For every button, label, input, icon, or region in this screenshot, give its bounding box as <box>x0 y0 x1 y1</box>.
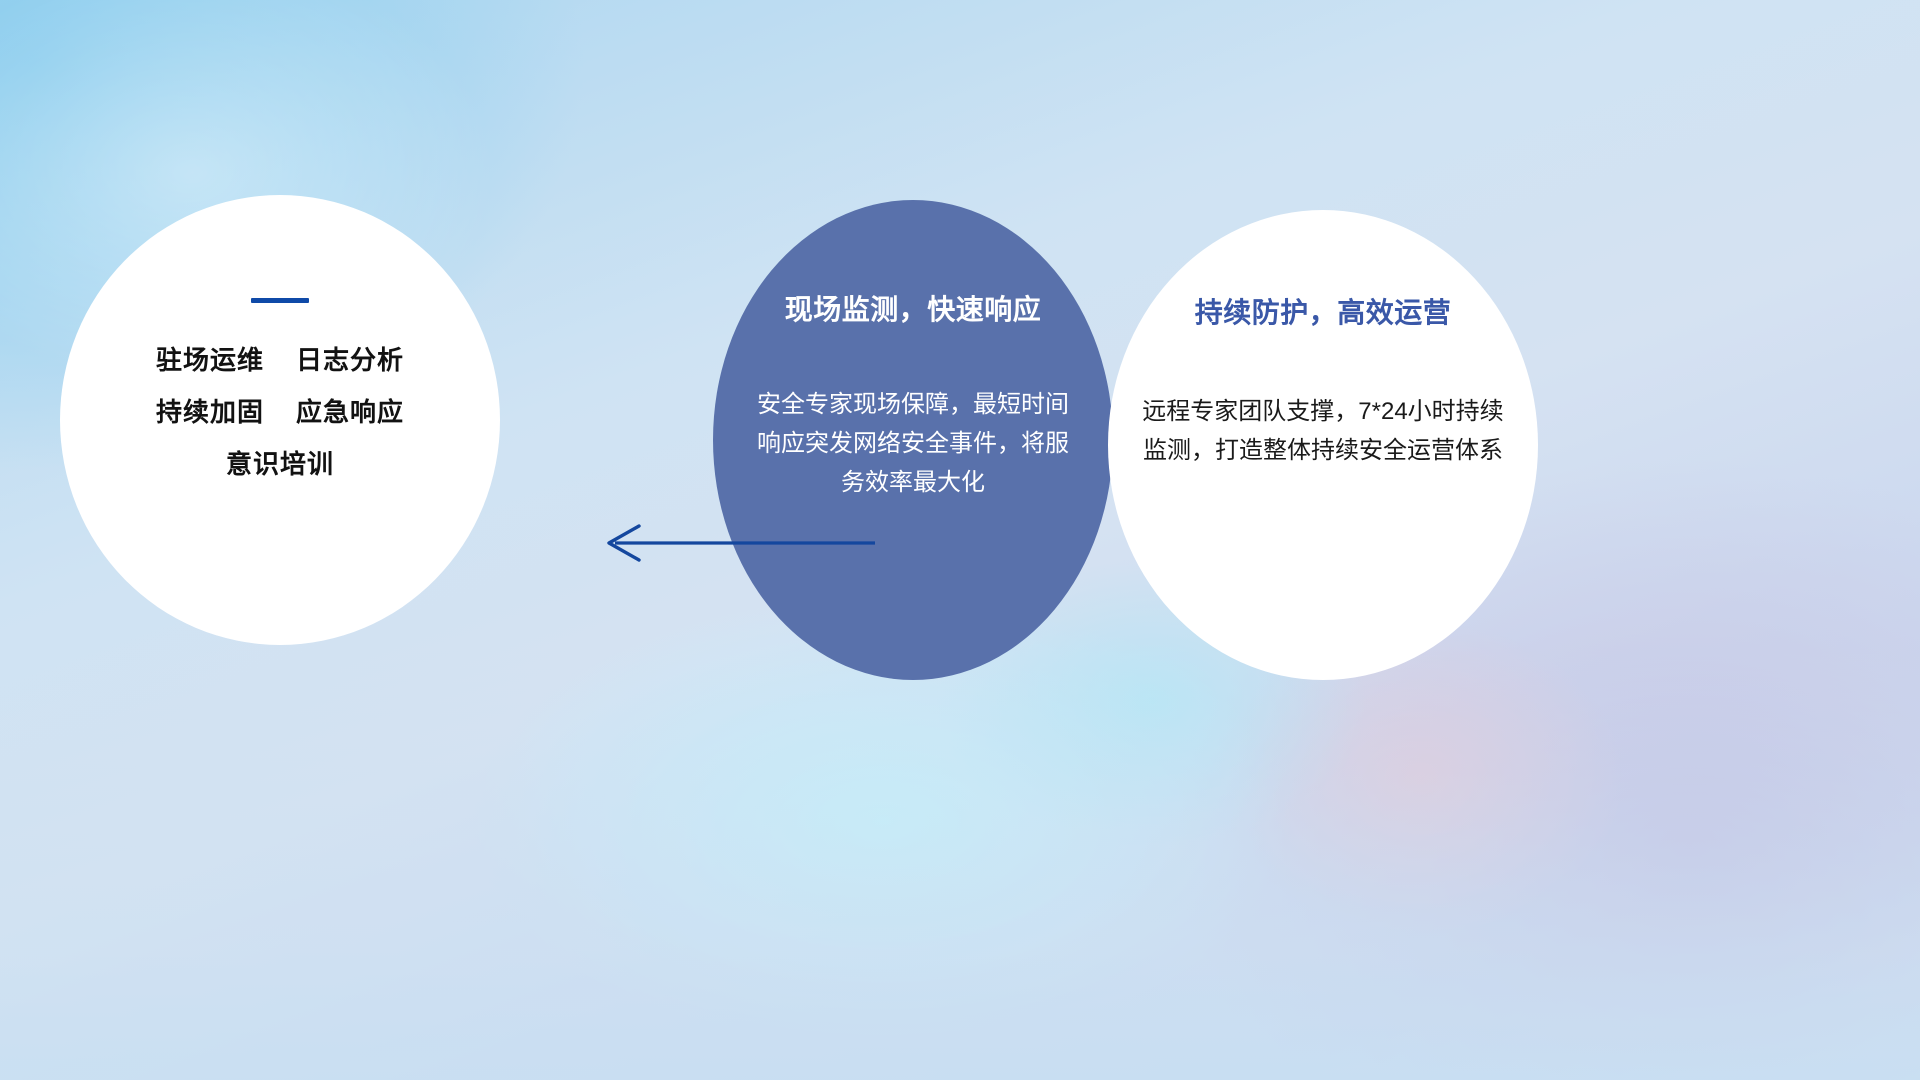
capability-row-1: 驻场运维 日志分析 <box>60 345 500 376</box>
continuous-protection-title: 持续防护，高效运营 <box>1108 295 1538 331</box>
capability-tag: 日志分析 <box>296 345 404 376</box>
onsite-monitoring-title: 现场监测，快速响应 <box>713 292 1113 328</box>
capability-tag: 意识培训 <box>226 449 334 480</box>
capability-row-2: 持续加固 应急响应 <box>60 397 500 428</box>
onsite-monitoring-content: 现场监测，快速响应 安全专家现场保障，最短时间响应突发网络安全事件，将服务效率最… <box>713 200 1113 503</box>
capability-tag: 持续加固 <box>156 397 264 428</box>
capabilities-content: 驻场运维 日志分析 持续加固 应急响应 意识培训 <box>60 195 500 502</box>
accent-dash-icon <box>251 298 309 303</box>
capabilities-circle[interactable]: 驻场运维 日志分析 持续加固 应急响应 意识培训 <box>60 195 500 645</box>
left-pointing-arrow <box>595 515 875 571</box>
continuous-protection-body: 远程专家团队支撑，7*24小时持续监测，打造整体持续安全运营体系 <box>1108 393 1538 471</box>
capability-tag: 应急响应 <box>296 397 404 428</box>
slide-canvas: 驻场运维 日志分析 持续加固 应急响应 意识培训 现场监测，快速响应 安全专家现… <box>0 0 1920 1080</box>
capability-row-3: 意识培训 <box>60 449 500 480</box>
continuous-protection-content: 持续防护，高效运营 远程专家团队支撑，7*24小时持续监测，打造整体持续安全运营… <box>1108 210 1538 471</box>
continuous-protection-circle[interactable]: 持续防护，高效运营 远程专家团队支撑，7*24小时持续监测，打造整体持续安全运营… <box>1108 210 1538 680</box>
onsite-monitoring-body: 安全专家现场保障，最短时间响应突发网络安全事件，将服务效率最大化 <box>713 386 1113 503</box>
capability-tag: 驻场运维 <box>156 345 264 376</box>
onsite-monitoring-circle[interactable]: 现场监测，快速响应 安全专家现场保障，最短时间响应突发网络安全事件，将服务效率最… <box>713 200 1113 680</box>
